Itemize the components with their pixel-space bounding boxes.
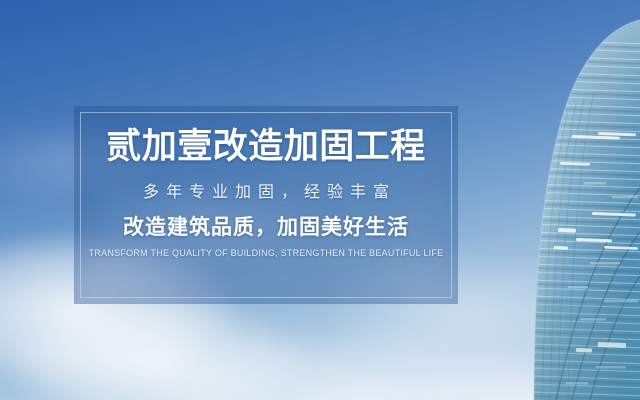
panel-content: 贰加壹改造加固工程 多年专业加固，经验丰富 改造建筑品质，加固美好生活 TRAN… [74, 106, 458, 304]
curved-glass-skyscraper [480, 0, 640, 400]
english-tagline: TRANSFORM THE QUALITY OF BUILDING, STREN… [89, 249, 444, 258]
page-title: 贰加壹改造加固工程 [106, 129, 426, 164]
hero-banner: 贰加壹改造加固工程 多年专业加固，经验丰富 改造建筑品质，加固美好生活 TRAN… [0, 0, 640, 400]
subtitle-line: 多年专业加固，经验丰富 [136, 185, 396, 201]
hero-text-panel: 贰加壹改造加固工程 多年专业加固，经验丰富 改造建筑品质，加固美好生活 TRAN… [74, 106, 458, 304]
tagline: 改造建筑品质，加固美好生活 [123, 217, 409, 238]
